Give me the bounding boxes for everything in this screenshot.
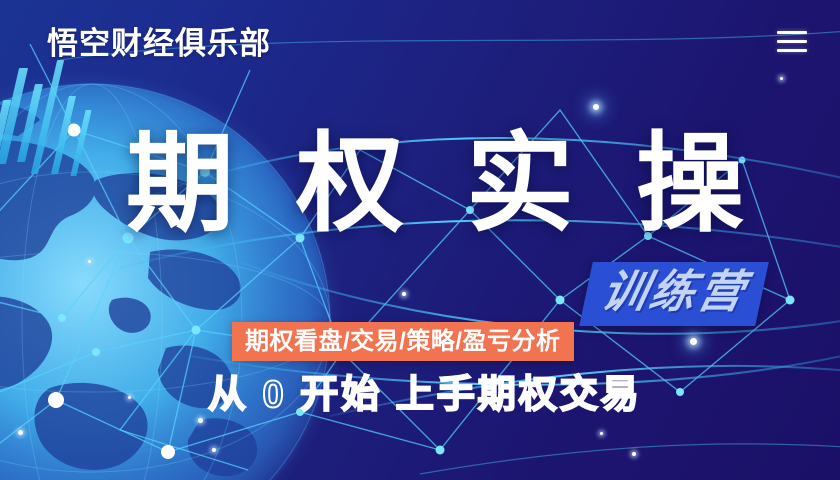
- camp-badge: 训练营: [579, 262, 769, 326]
- site-logo[interactable]: 悟空财经俱乐部: [47, 24, 271, 64]
- hero-title: 期 权 实 操: [126, 126, 760, 242]
- hero-tagline: 从 0 开始 上手期权交易: [208, 372, 642, 418]
- hamburger-menu-icon[interactable]: [777, 31, 807, 55]
- subtitle-bar: 期权看盘/交易/策略/盈亏分析: [232, 322, 574, 361]
- camp-badge-label: 训练营: [597, 266, 752, 318]
- menu-bar-2: [777, 40, 807, 43]
- menu-bar-3: [777, 49, 807, 52]
- menu-bar-1: [777, 31, 807, 34]
- promo-banner: 悟空财经俱乐部 期 权 实 操 训练营 期权看盘/交易/策略/盈亏分析 从 0 …: [0, 0, 840, 480]
- banner-header: 悟空财经俱乐部: [0, 0, 840, 92]
- subtitle-label: 期权看盘/交易/策略/盈亏分析: [245, 329, 561, 355]
